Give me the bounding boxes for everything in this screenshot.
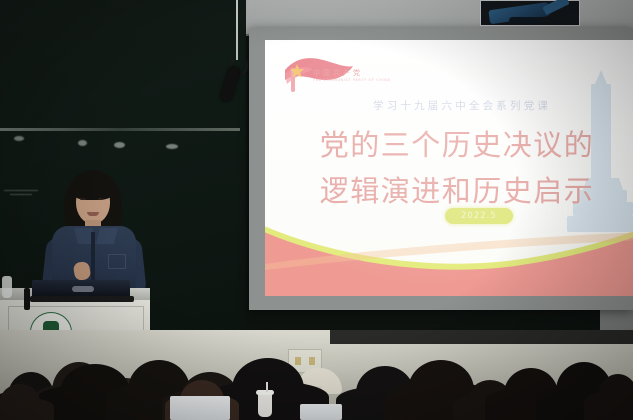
drink-cup-lid <box>256 390 274 395</box>
laptop-screen <box>300 404 342 420</box>
audience-head <box>598 374 633 420</box>
audience-head <box>0 384 40 420</box>
lecture-hall-scene: 中国共产党 THE COMMUNIST PARTY OF CHINA 学习十九届… <box>0 0 633 420</box>
laptop-screen <box>170 396 230 420</box>
drink-cup-straw <box>266 382 268 392</box>
audience-head-group <box>0 0 633 420</box>
drink-cup <box>258 393 272 417</box>
